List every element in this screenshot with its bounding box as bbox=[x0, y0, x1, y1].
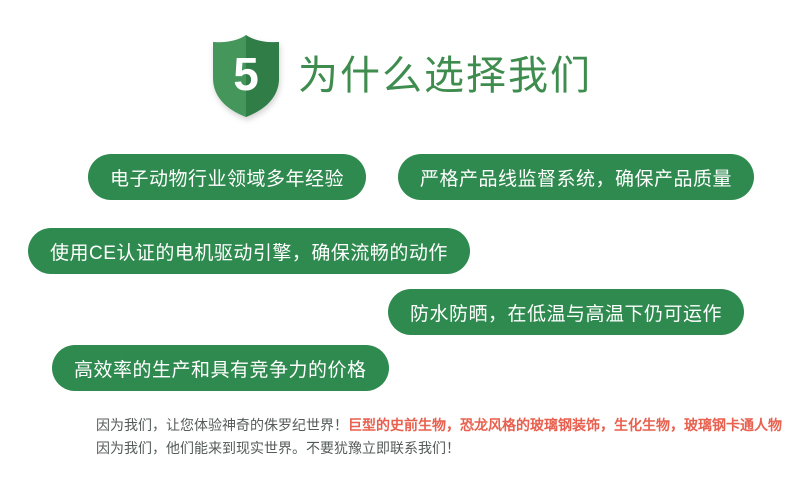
page-title: 为什么选择我们 bbox=[298, 56, 592, 96]
feature-pill-experience[interactable]: 电子动物行业领域多年经验 bbox=[88, 154, 366, 200]
shield-icon: 5 bbox=[208, 34, 284, 118]
page-header: 5 为什么选择我们 bbox=[0, 30, 800, 122]
footer-line-1-plain: 因为我们，让您体验神奇的侏罗纪世界！ bbox=[96, 417, 348, 433]
promo-page: 5 为什么选择我们 电子动物行业领域多年经验 严格产品线监督系统，确保产品质量 … bbox=[0, 0, 800, 485]
footer-description: 因为我们，让您体验神奇的侏罗纪世界！巨型的史前生物，恐龙风格的玻璃钢装饰，生化生… bbox=[96, 414, 756, 460]
feature-pill-label: 使用CE认证的电机驱动引擎，确保流畅的动作 bbox=[50, 238, 448, 265]
feature-pill-label: 严格产品线监督系统，确保产品质量 bbox=[420, 164, 732, 191]
footer-line-2: 因为我们，他们能来到现实世界。不要犹豫立即联系我们！ bbox=[96, 437, 756, 460]
feature-pill-label: 电子动物行业领域多年经验 bbox=[110, 164, 344, 191]
feature-pill-label: 高效率的生产和具有竞争力的价格 bbox=[74, 355, 367, 382]
feature-pill-price[interactable]: 高效率的生产和具有竞争力的价格 bbox=[52, 345, 389, 391]
feature-pill-quality[interactable]: 严格产品线监督系统，确保产品质量 bbox=[398, 154, 754, 200]
footer-line-1: 因为我们，让您体验神奇的侏罗纪世界！巨型的史前生物，恐龙风格的玻璃钢装饰，生化生… bbox=[96, 414, 756, 437]
feature-pill-label: 防水防晒，在低温与高温下仍可运作 bbox=[410, 299, 722, 326]
footer-line-1-highlight: 巨型的史前生物，恐龙风格的玻璃钢装饰，生化生物，玻璃钢卡通人物 bbox=[348, 417, 782, 433]
feature-pill-ce-motor[interactable]: 使用CE认证的电机驱动引擎，确保流畅的动作 bbox=[28, 228, 470, 274]
badge-number: 5 bbox=[208, 34, 284, 118]
feature-pill-weather[interactable]: 防水防晒，在低温与高温下仍可运作 bbox=[388, 289, 744, 335]
